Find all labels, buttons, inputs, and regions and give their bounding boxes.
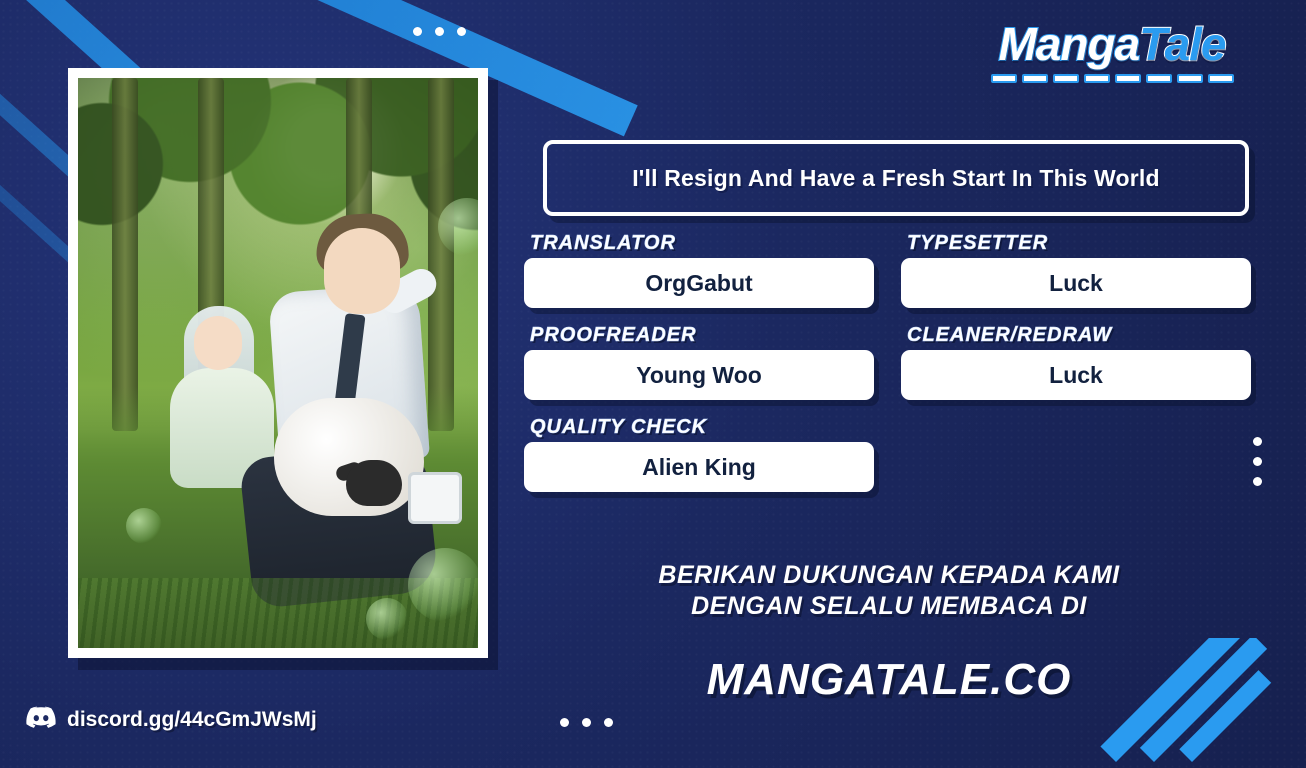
credit-label-cleaner-redraw: CLEANER/REDRAW — [907, 324, 1251, 347]
credit-value-proofreader: Young Woo — [636, 362, 762, 389]
logo-wordmark: MangaTale — [952, 16, 1272, 72]
decorative-dots-top — [413, 27, 466, 36]
credit-pill-translator: OrgGabut — [524, 258, 874, 308]
logo-text-tale: Tale — [1139, 18, 1225, 70]
credit-label-quality-check: QUALITY CHECK — [530, 416, 874, 439]
discord-invite-text[interactable]: discord.gg/44cGmJWsMj — [67, 708, 317, 732]
credit-value-cleaner-redraw: Luck — [1049, 362, 1103, 389]
decorative-dots-right — [1253, 437, 1262, 486]
credit-proofreader: PROOFREADER Young Woo — [524, 324, 874, 400]
decorative-dots-bottom — [560, 718, 613, 727]
credit-pill-cleaner-redraw: Luck — [901, 350, 1251, 400]
credit-value-quality-check: Alien King — [642, 454, 756, 481]
logo-underline-bars — [952, 74, 1272, 83]
credit-cleaner-redraw: CLEANER/REDRAW Luck — [901, 324, 1251, 400]
credits-column-right: TYPESETTER Luck CLEANER/REDRAW Luck — [901, 232, 1251, 416]
support-line-1: BERIKAN DUKUNGAN KEPADA KAMI — [524, 560, 1254, 591]
mangatale-logo: MangaTale — [952, 16, 1272, 94]
credit-value-translator: OrgGabut — [645, 270, 752, 297]
support-line-2: DENGAN SELALU MEMBACA DI — [524, 591, 1254, 622]
credits-column-left: TRANSLATOR OrgGabut PROOFREADER Young Wo… — [524, 232, 874, 508]
credit-value-typesetter: Luck — [1049, 270, 1103, 297]
credit-label-typesetter: TYPESETTER — [907, 232, 1251, 255]
page-title: I'll Resign And Have a Fresh Start In Th… — [632, 165, 1160, 192]
cover-artwork — [78, 78, 478, 648]
credit-quality-check: QUALITY CHECK Alien King — [524, 416, 874, 492]
credit-pill-quality-check: Alien King — [524, 442, 874, 492]
credit-pill-typesetter: Luck — [901, 258, 1251, 308]
discord-icon — [26, 706, 56, 734]
support-message: BERIKAN DUKUNGAN KEPADA KAMI DENGAN SELA… — [524, 560, 1254, 622]
credit-pill-proofreader: Young Woo — [524, 350, 874, 400]
discord-invite[interactable]: discord.gg/44cGmJWsMj — [26, 706, 317, 734]
cover-image-frame — [68, 68, 488, 658]
website-url: MANGATALE.CO — [524, 655, 1254, 705]
chapter-title-plate: I'll Resign And Have a Fresh Start In Th… — [543, 140, 1249, 216]
credit-translator: TRANSLATOR OrgGabut — [524, 232, 874, 308]
logo-text-manga: Manga — [998, 18, 1139, 70]
credit-typesetter: TYPESETTER Luck — [901, 232, 1251, 308]
credit-label-proofreader: PROOFREADER — [530, 324, 874, 347]
credit-label-translator: TRANSLATOR — [530, 232, 874, 255]
